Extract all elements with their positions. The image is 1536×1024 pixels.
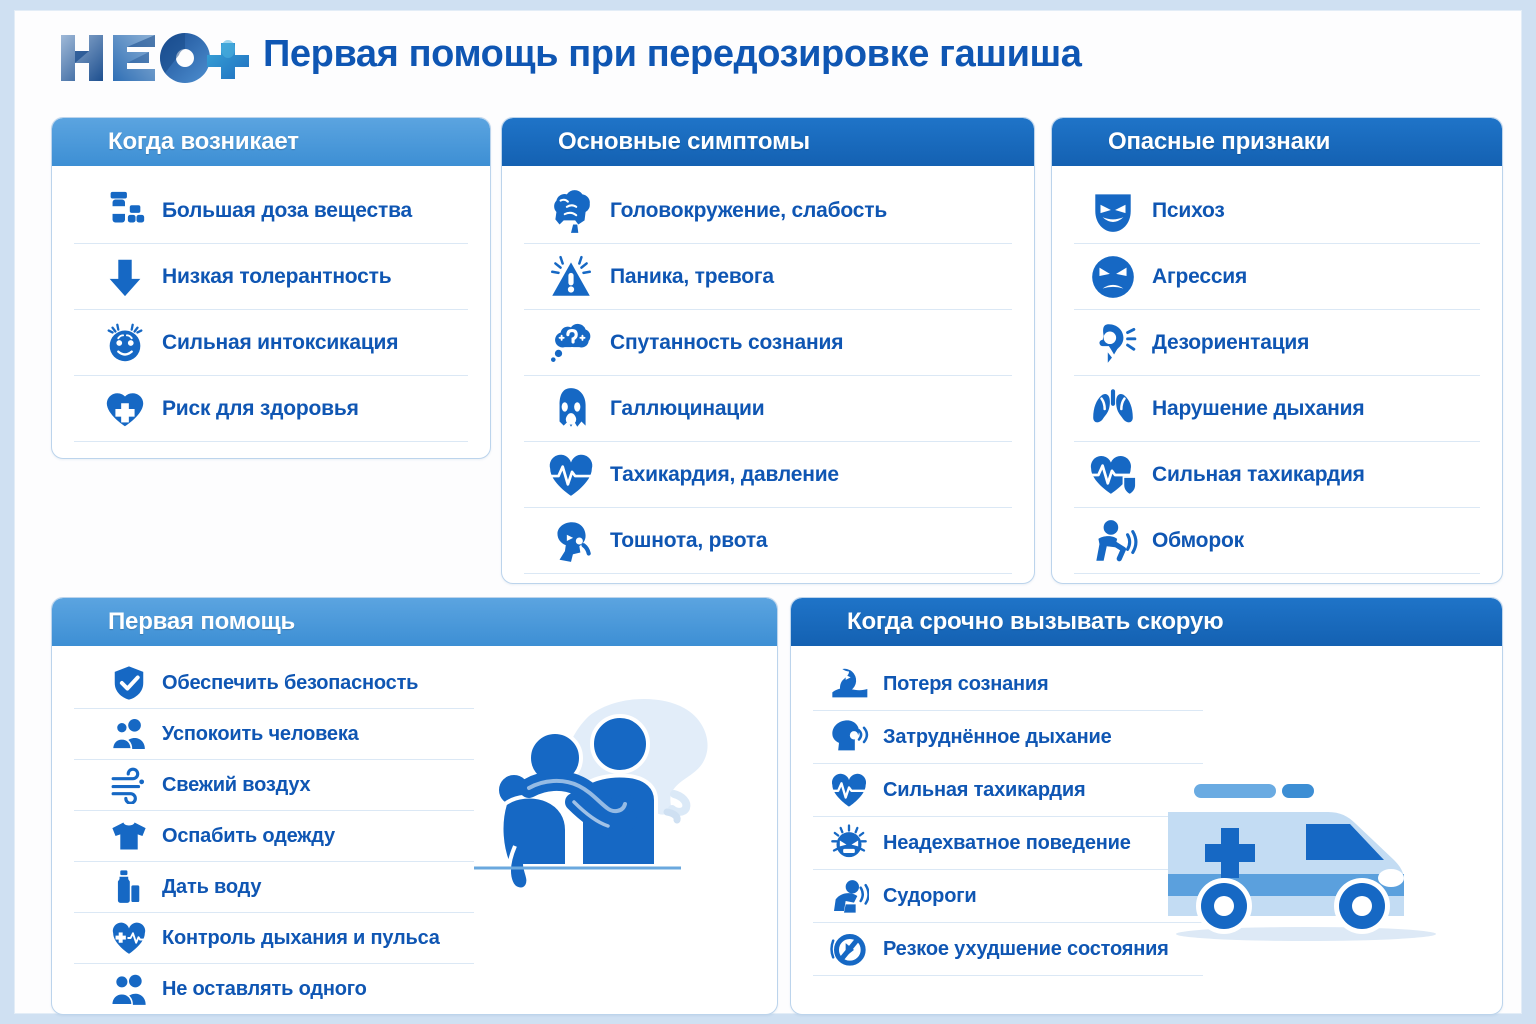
- list-item-label: Паника, тревога: [610, 265, 774, 289]
- vomiting-head-icon: [546, 516, 596, 566]
- list-item[interactable]: Обеспечить безопасность: [74, 658, 474, 709]
- convulsions-icon: [829, 876, 869, 916]
- angry-face-icon: [1088, 252, 1138, 302]
- list-item[interactable]: Тошнота, рвота: [524, 508, 1012, 574]
- list-item[interactable]: Обморок: [1074, 508, 1480, 574]
- list-item[interactable]: Галлюцинации: [524, 376, 1012, 442]
- list-item-label: Затруднённое дыхание: [883, 726, 1112, 749]
- list-item[interactable]: Дать воду: [74, 862, 474, 913]
- agitated-face-icon: [829, 823, 869, 863]
- card-first-aid-title: Первая помощь: [52, 598, 777, 646]
- list-item[interactable]: Головокружение, слабость: [524, 178, 1012, 244]
- list-item[interactable]: Неадехватное поведение: [813, 817, 1203, 870]
- heart-pulse-shield-icon: [1088, 450, 1138, 500]
- water-bottle-icon: [110, 868, 148, 906]
- list-item[interactable]: Судороги: [813, 870, 1203, 923]
- list-item-label: Риск для здоровья: [162, 397, 359, 421]
- list-item[interactable]: Агрессия: [1074, 244, 1480, 310]
- disoriented-head-icon: [1088, 318, 1138, 368]
- lungs-icon: [1088, 384, 1138, 434]
- fainting-person-icon: [1088, 516, 1138, 566]
- heart-cross-icon: [102, 386, 148, 432]
- thought-question-icon: [546, 318, 596, 368]
- list-item[interactable]: Не оставлять одного: [74, 964, 474, 1015]
- list-item-label: Большая доза вещества: [162, 199, 412, 223]
- list-item-label: Агрессия: [1152, 265, 1247, 289]
- list-item-label: Успокоить человека: [162, 723, 359, 746]
- list-item-label: Резкое ухудшение состояния: [883, 938, 1169, 961]
- list-item-label: Не оставлять одного: [162, 978, 367, 1001]
- card-when-occurs-body: Большая доза вещества Низкая толерантнос…: [52, 166, 490, 452]
- list-item-label: Нарушение дыхания: [1152, 397, 1364, 421]
- list-item[interactable]: Низкая толерантность: [74, 244, 468, 310]
- card-first-aid: Первая помощь Обеспечить безопасность Ус…: [51, 597, 778, 1015]
- card-call-ambulance-body: Потеря сознания Затруднённое дыхание Сил…: [791, 646, 1502, 986]
- list-item-label: Головокружение, слабость: [610, 199, 887, 223]
- card-danger-signs: Опасные признаки Психоз Агрессия Дезорие…: [1051, 117, 1503, 584]
- list-item[interactable]: Сильная тахикардия: [813, 764, 1203, 817]
- list-item-label: Неадехватное поведение: [883, 832, 1131, 855]
- wind-icon: [110, 766, 148, 804]
- card-call-ambulance: Когда срочно вызывать скорую Потеря созн…: [790, 597, 1503, 1015]
- infographic-page: Первая помощь при передозировке гашиша К…: [14, 10, 1522, 1014]
- list-item-label: Тахикардия, давление: [610, 463, 839, 487]
- ghost-icon: [546, 384, 596, 434]
- list-item[interactable]: Паника, тревога: [524, 244, 1012, 310]
- list-item-label: Судороги: [883, 885, 976, 908]
- unconscious-person-icon: [829, 664, 869, 704]
- breathing-difficulty-icon: [829, 717, 869, 757]
- list-item-label: Спутанность сознания: [610, 331, 843, 355]
- first-aid-list: Обеспечить безопасность Успокоить челове…: [74, 658, 474, 1015]
- card-danger-signs-body: Психоз Агрессия Дезориентация Нарушение …: [1052, 166, 1502, 584]
- card-main-symptoms-title: Основные симптомы: [502, 118, 1034, 166]
- list-item[interactable]: Спутанность сознания: [524, 310, 1012, 376]
- card-main-symptoms-body: Головокружение, слабость Паника, тревога…: [502, 166, 1034, 584]
- heart-cross-pulse-icon: [110, 919, 148, 957]
- two-people-icon: [110, 715, 148, 753]
- list-item-label: Психоз: [1152, 199, 1225, 223]
- list-item-label: Обеспечить безопасность: [162, 672, 418, 695]
- pill-bottle-icon: [102, 188, 148, 234]
- list-item[interactable]: Резкое ухудшение состояния: [813, 923, 1203, 976]
- neo-plus-logo: [55, 29, 255, 87]
- page-title: Первая помощь при передозировке гашиша: [263, 33, 1082, 76]
- ambulance-list: Потеря сознания Затруднённое дыхание Сил…: [813, 658, 1203, 976]
- list-item[interactable]: Тахикардия, давление: [524, 442, 1012, 508]
- list-item[interactable]: Нарушение дыхания: [1074, 376, 1480, 442]
- list-item[interactable]: Психоз: [1074, 178, 1480, 244]
- list-item-label: Сильная интоксикация: [162, 331, 398, 355]
- list-item[interactable]: Контроль дыхания и пульса: [74, 913, 474, 964]
- tshirt-icon: [110, 817, 148, 855]
- list-item-label: Тошнота, рвота: [610, 529, 767, 553]
- list-item-label: Галлюцинации: [610, 397, 764, 421]
- down-arrow-icon: [102, 254, 148, 300]
- list-item[interactable]: Затруднённое дыхание: [813, 711, 1203, 764]
- list-item-label: Сильная тахикардия: [1152, 463, 1365, 487]
- card-danger-signs-title: Опасные признаки: [1052, 118, 1502, 166]
- supporting-person-illustration: [469, 676, 759, 926]
- list-item[interactable]: Потеря сознания: [813, 658, 1203, 711]
- list-item-label: Низкая толерантность: [162, 265, 391, 289]
- list-item[interactable]: Сильная интоксикация: [74, 310, 468, 376]
- sharp-decline-icon: [829, 929, 869, 969]
- card-main-symptoms: Основные симптомы Головокружение, слабос…: [501, 117, 1035, 584]
- list-item-label: Сильная тахикардия: [883, 779, 1085, 802]
- dizzy-face-icon: [102, 320, 148, 366]
- list-item-label: Свежий воздух: [162, 774, 310, 797]
- list-item-label: Дезориентация: [1152, 331, 1309, 355]
- card-call-ambulance-title: Когда срочно вызывать скорую: [791, 598, 1502, 646]
- card-when-occurs-title: Когда возникает: [52, 118, 490, 166]
- list-item-label: Контроль дыхания и пульса: [162, 927, 440, 950]
- brain-icon: [546, 186, 596, 236]
- shield-check-icon: [110, 664, 148, 702]
- list-item-label: Потеря сознания: [883, 673, 1048, 696]
- list-item[interactable]: Большая доза вещества: [74, 178, 468, 244]
- warning-triangle-icon: [546, 252, 596, 302]
- card-when-occurs: Когда возникает Большая доза вещества Ни…: [51, 117, 491, 459]
- evil-mask-icon: [1088, 186, 1138, 236]
- list-item[interactable]: Успокоить человека: [74, 709, 474, 760]
- list-item[interactable]: Оспабить одежду: [74, 811, 474, 862]
- list-item[interactable]: Сильная тахикардия: [1074, 442, 1480, 508]
- list-item-label: Обморок: [1152, 529, 1244, 553]
- two-people-filled-icon: [110, 970, 148, 1008]
- card-first-aid-body: Обеспечить безопасность Успокоить челове…: [52, 646, 777, 1015]
- heart-pulse-line-icon: [829, 770, 869, 810]
- page-header: Первая помощь при передозировке гашиша: [15, 11, 1521, 103]
- list-item[interactable]: Дезориентация: [1074, 310, 1480, 376]
- heart-pulse-icon: [546, 450, 596, 500]
- list-item[interactable]: Риск для здоровья: [74, 376, 468, 442]
- list-item-label: Оспабить одежду: [162, 825, 335, 848]
- list-item[interactable]: Свежий воздух: [74, 760, 474, 811]
- list-item-label: Дать воду: [162, 876, 261, 899]
